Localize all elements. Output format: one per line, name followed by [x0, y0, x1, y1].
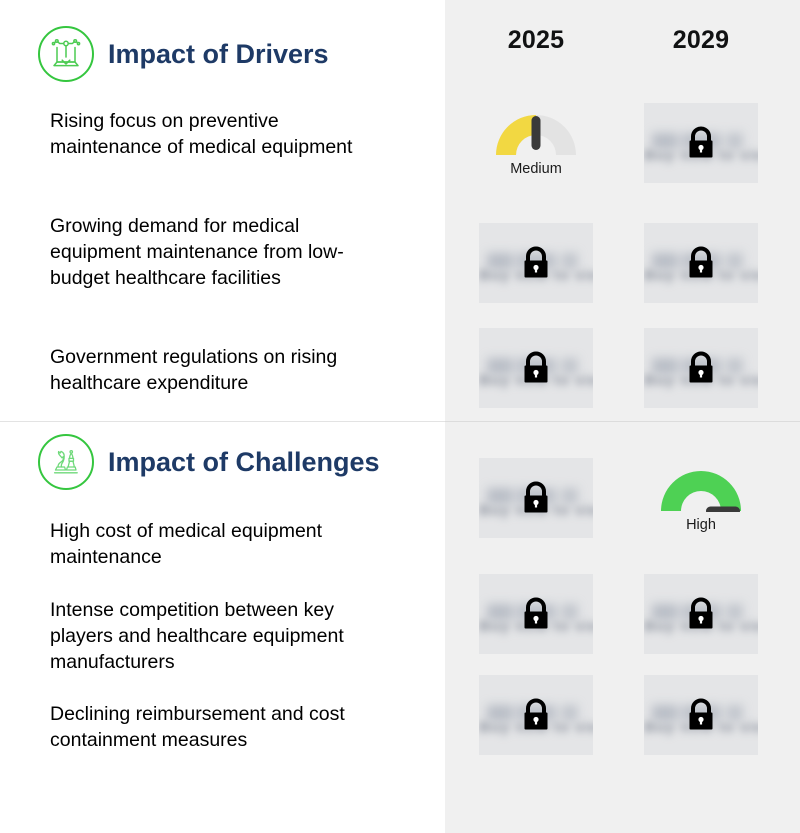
locked-tile-drivers-1-2029[interactable]: Buy now to view [644, 103, 758, 183]
locked-tile-challenges-2-2029[interactable]: Buy now to view [644, 574, 758, 654]
gauge-cell-drivers-1-2025: Medium [476, 110, 596, 177]
locked-tile-drivers-2-2029[interactable]: Buy now to view [644, 223, 758, 303]
lock-icon [684, 696, 718, 734]
locked-tile-drivers-3-2029[interactable]: Buy now to view [644, 328, 758, 408]
locked-tile-drivers-2-2025[interactable]: Buy now to view [479, 223, 593, 303]
locked-tile-challenges-2-2025[interactable]: Buy now to view [479, 574, 593, 654]
gauge-cell-challenges-1-2029: High [641, 466, 761, 533]
challenge-item-1: High cost of medical equipment maintenan… [50, 518, 400, 570]
locked-tile-drivers-3-2025[interactable]: Buy now to view [479, 328, 593, 408]
lock-icon [684, 349, 718, 387]
drivers-icon-glyph [49, 37, 83, 71]
impact-matrix-page: 2025 2029 Impact of Drivers Risin [0, 0, 800, 833]
lock-icon [684, 595, 718, 633]
locked-tile-challenges-3-2029[interactable]: Buy now to view [644, 675, 758, 755]
lock-icon [519, 696, 553, 734]
gauge-high-dial [658, 466, 744, 512]
column-header-2029: 2029 [641, 26, 761, 55]
gauge-medium-dial [493, 110, 579, 156]
section-header-drivers: Impact of Drivers [38, 26, 329, 82]
gauge-medium [493, 110, 579, 156]
lock-icon [519, 349, 553, 387]
section-header-challenges: Impact of Challenges [38, 434, 380, 490]
section-title-drivers: Impact of Drivers [108, 39, 329, 70]
section-divider-left [0, 421, 445, 422]
section-title-challenges: Impact of Challenges [108, 447, 380, 478]
section-divider [0, 421, 800, 422]
lock-icon [519, 244, 553, 282]
driver-item-1: Rising focus on preventive maintenance o… [50, 108, 380, 160]
gauge-label-high: High [641, 517, 761, 533]
challenges-icon-glyph [49, 445, 83, 479]
driver-item-2: Growing demand for medical equipment mai… [50, 213, 380, 291]
gauge-label-medium: Medium [476, 161, 596, 177]
challenge-item-3: Declining reimbursement and cost contain… [50, 701, 390, 753]
locked-tile-challenges-3-2025[interactable]: Buy now to view [479, 675, 593, 755]
driver-item-3: Government regulations on rising healthc… [50, 344, 380, 396]
gauge-high [658, 466, 744, 512]
lock-icon [684, 124, 718, 162]
challenge-item-2: Intense competition between key players … [50, 597, 390, 675]
lock-icon [519, 479, 553, 517]
column-header-2025: 2025 [476, 26, 596, 55]
chess-pieces-challenges-icon [38, 434, 94, 490]
lock-icon [519, 595, 553, 633]
laptop-download-drivers-icon [38, 26, 94, 82]
locked-tile-challenges-1-2025[interactable]: Buy now to view [479, 458, 593, 538]
lock-icon [684, 244, 718, 282]
